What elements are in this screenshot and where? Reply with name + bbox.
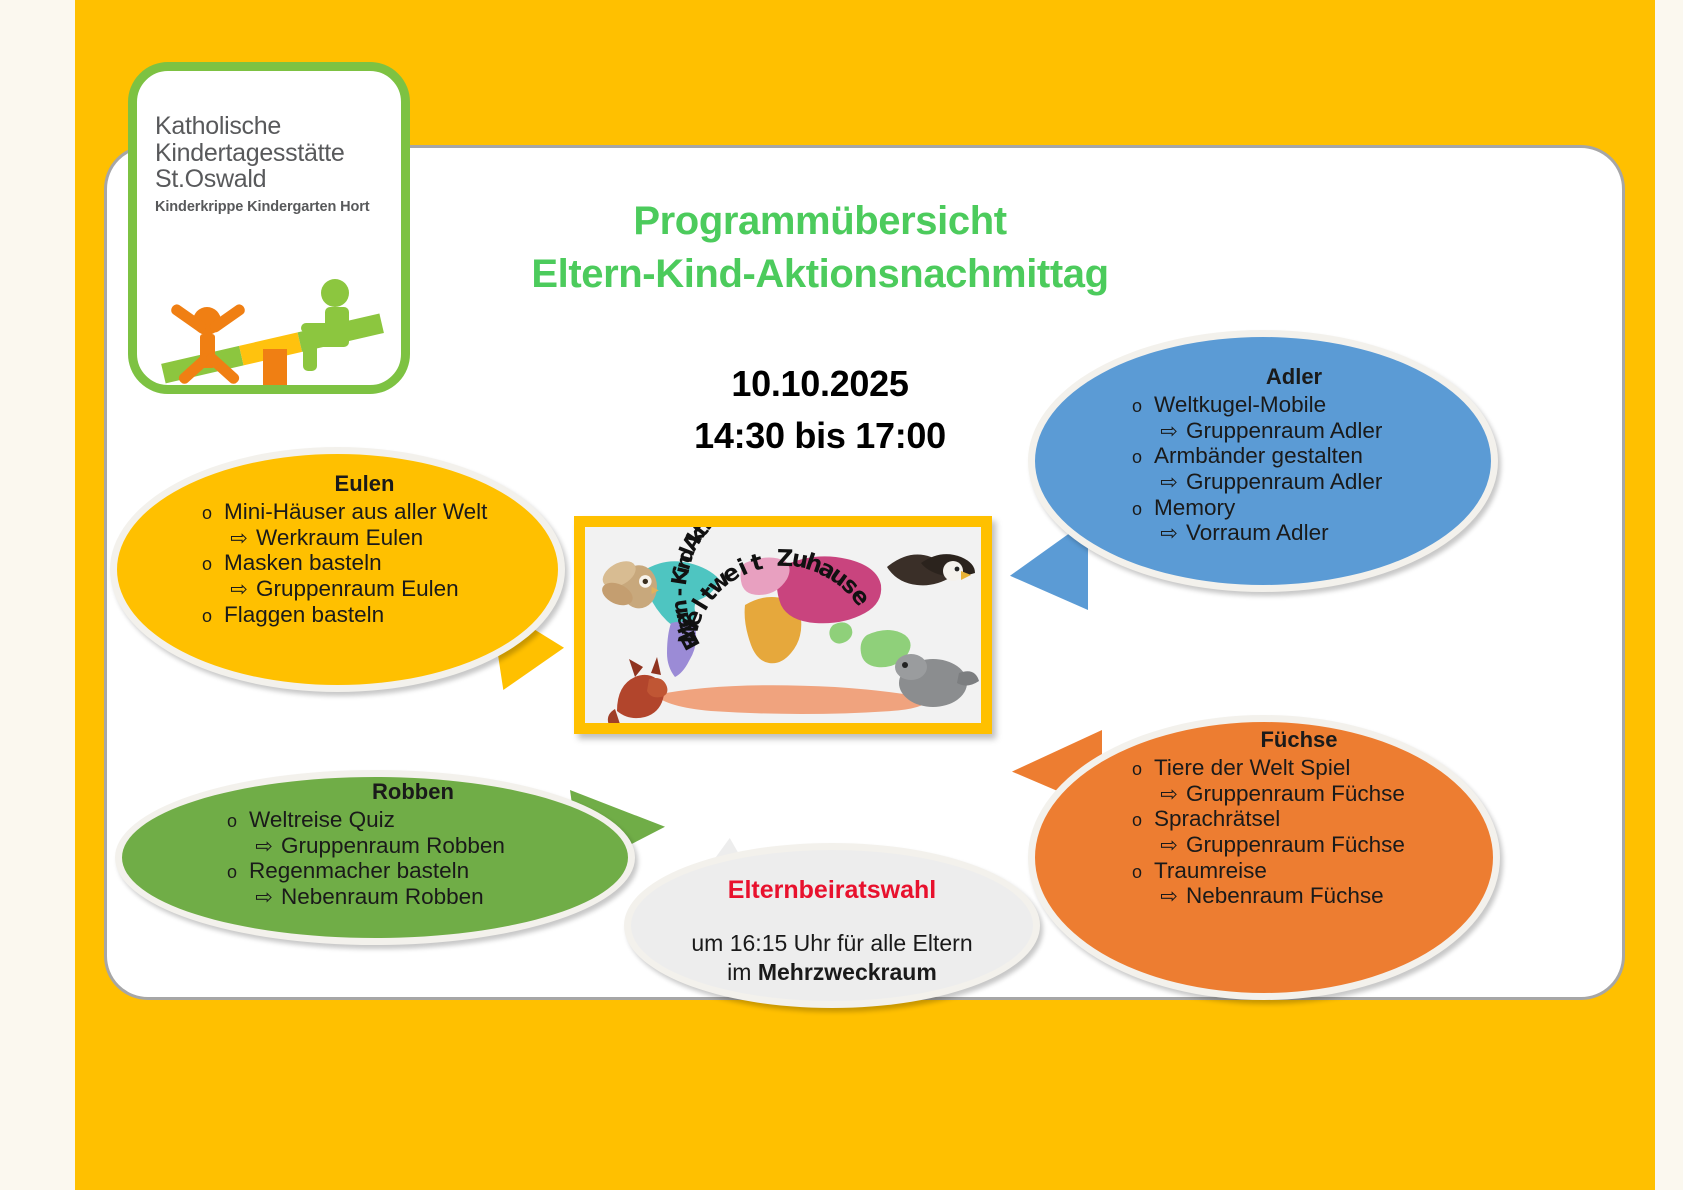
logo-line-4: Kinderkrippe Kindergarten Hort [155, 200, 395, 215]
list-item-label: Vorraum Adler [1186, 520, 1468, 546]
list-item: oRegenmacher basteln [215, 858, 611, 884]
elternbeirat-bubble-content: Elternbeiratswahl um 16:15 Uhr für alle … [624, 843, 1040, 1008]
logo-line-1: Katholische [155, 113, 395, 140]
fuechse-list: Füchse oTiere der Welt Spiel ⇨Gruppenrau… [1028, 728, 1500, 909]
list-item-label: Gruppenraum Füchse [1186, 832, 1478, 858]
bullet-icon: o [1120, 447, 1154, 467]
elternbeirat-room: Mehrzweckraum [758, 959, 937, 985]
elternbeirat-text: Elternbeiratswahl um 16:15 Uhr für alle … [624, 876, 1040, 986]
list-item-label: Nebenraum Robben [281, 884, 611, 910]
list-item: ⇨Werkraum Eulen [190, 525, 539, 551]
list-item-label: Gruppenraum Adler [1186, 418, 1468, 444]
robben-title: Robben [215, 780, 611, 805]
arc-text-bottom: Eltern - Kind Aktion [585, 527, 981, 723]
arrow-icon: ⇨ [247, 886, 281, 910]
arrow-icon: ⇨ [222, 527, 256, 551]
logo-line-2: Kindertagesstätte [155, 140, 395, 167]
list-item-label: Armbänder gestalten [1154, 443, 1468, 469]
list-item: ⇨Nebenraum Robben [215, 884, 611, 910]
arrow-icon: ⇨ [1152, 471, 1186, 495]
list-item-label: Gruppenraum Robben [281, 833, 611, 859]
fuechse-bubble-content: Füchse oTiere der Welt Spiel ⇨Gruppenrau… [1028, 715, 1500, 1000]
list-item: ⇨Gruppenraum Füchse [1120, 781, 1478, 807]
adler-list: Adler oWeltkugel-Mobile ⇨Gruppenraum Adl… [1028, 365, 1498, 546]
bullet-icon: o [1120, 759, 1154, 779]
list-item-label: Masken basteln [224, 550, 539, 576]
fuechse-title: Füchse [1120, 728, 1478, 753]
bullet-icon: o [215, 862, 249, 882]
list-item-label: Traumreise [1154, 858, 1478, 884]
list-item: ⇨Gruppenraum Füchse [1120, 832, 1478, 858]
list-item: ⇨Gruppenraum Adler [1120, 469, 1468, 495]
center-picture: Weltweit Zuhause Eltern - Kind Aktion [585, 527, 981, 723]
list-item: ⇨Gruppenraum Eulen [190, 576, 539, 602]
seesaw-logo-icon [145, 271, 410, 394]
list-item: ⇨Vorraum Adler [1120, 520, 1468, 546]
bubble-elternbeiratswahl[interactable]: Elternbeiratswahl um 16:15 Uhr für alle … [624, 843, 1040, 1008]
elternbeirat-line-2-prefix: im [727, 959, 758, 985]
bubble-eulen[interactable]: Eulen oMini-Häuser aus aller Welt ⇨Werkr… [110, 447, 565, 692]
robben-bubble-content: Robben oWeltreise Quiz ⇨Gruppenraum Robb… [115, 770, 635, 945]
page-title: Programmübersicht Eltern-Kind-Aktionsnac… [430, 195, 1210, 301]
bubble-fuechse[interactable]: Füchse oTiere der Welt Spiel ⇨Gruppenrau… [1028, 715, 1500, 1000]
bubble-adler[interactable]: Adler oWeltkugel-Mobile ⇨Gruppenraum Adl… [1028, 330, 1498, 592]
arrow-icon: ⇨ [1152, 522, 1186, 546]
robben-list: Robben oWeltreise Quiz ⇨Gruppenraum Robb… [115, 780, 635, 910]
bullet-icon: o [1120, 862, 1154, 882]
list-item-label: Weltkugel-Mobile [1154, 392, 1468, 418]
list-item: oArmbänder gestalten [1120, 443, 1468, 469]
elternbeirat-line-1: um 16:15 Uhr für alle Eltern [650, 930, 1014, 956]
list-item: oMasken basteln [190, 550, 539, 576]
center-picture-frame: Weltweit Zuhause Eltern - Kind Aktion [574, 516, 992, 734]
list-item: oTiere der Welt Spiel [1120, 755, 1478, 781]
list-item-label: Tiere der Welt Spiel [1154, 755, 1478, 781]
list-item: oTraumreise [1120, 858, 1478, 884]
list-item: oMini-Häuser aus aller Welt [190, 499, 539, 525]
list-item-label: Regenmacher basteln [249, 858, 611, 884]
logo-text: Katholische Kindertagesstätte St.Oswald … [155, 113, 395, 215]
bullet-icon: o [190, 503, 224, 523]
poster-root: Programmübersicht Eltern-Kind-Aktionsnac… [0, 0, 1683, 1190]
bullet-icon: o [215, 811, 249, 831]
arrow-icon: ⇨ [247, 835, 281, 859]
bullet-icon: o [1120, 810, 1154, 830]
list-item-label: Gruppenraum Füchse [1186, 781, 1478, 807]
eulen-list: Eulen oMini-Häuser aus aller Welt ⇨Werkr… [110, 472, 565, 627]
list-item-label: Gruppenraum Eulen [256, 576, 539, 602]
eulen-title: Eulen [190, 472, 539, 497]
arrow-icon: ⇨ [1152, 783, 1186, 807]
list-item: oWeltreise Quiz [215, 807, 611, 833]
list-item-label: Sprachrätsel [1154, 806, 1478, 832]
eulen-bubble-content: Eulen oMini-Häuser aus aller Welt ⇨Werkr… [110, 447, 565, 692]
list-item-label: Mini-Häuser aus aller Welt [224, 499, 539, 525]
list-item: ⇨Nebenraum Füchse [1120, 883, 1478, 909]
arrow-icon: ⇨ [1152, 420, 1186, 444]
elternbeirat-line-2: im Mehrzweckraum [650, 959, 1014, 985]
list-item: ⇨Gruppenraum Adler [1120, 418, 1468, 444]
bullet-icon: o [190, 554, 224, 574]
bullet-icon: o [1120, 499, 1154, 519]
arrow-icon: ⇨ [1152, 885, 1186, 909]
arrow-icon: ⇨ [222, 578, 256, 602]
list-item: oSprachrätsel [1120, 806, 1478, 832]
list-item-label: Memory [1154, 495, 1468, 521]
title-line-1: Programmübersicht [430, 195, 1210, 248]
logo-tile: Katholische Kindertagesstätte St.Oswald … [128, 62, 410, 394]
arrow-icon: ⇨ [1152, 834, 1186, 858]
bullet-icon: o [190, 606, 224, 626]
logo-line-3: St.Oswald [155, 166, 395, 193]
list-item: oFlaggen basteln [190, 602, 539, 628]
list-item-label: Gruppenraum Adler [1186, 469, 1468, 495]
list-item-label: Nebenraum Füchse [1186, 883, 1478, 909]
adler-title: Adler [1120, 365, 1468, 390]
list-item-label: Flaggen basteln [224, 602, 539, 628]
elternbeirat-title: Elternbeiratswahl [650, 876, 1014, 904]
list-item-label: Werkraum Eulen [256, 525, 539, 551]
list-item: oWeltkugel-Mobile [1120, 392, 1468, 418]
list-item: oMemory [1120, 495, 1468, 521]
list-item-label: Weltreise Quiz [249, 807, 611, 833]
title-line-2: Eltern-Kind-Aktionsnachmittag [430, 248, 1210, 301]
adler-bubble-content: Adler oWeltkugel-Mobile ⇨Gruppenraum Adl… [1028, 330, 1498, 592]
bullet-icon: o [1120, 396, 1154, 416]
list-item: ⇨Gruppenraum Robben [215, 833, 611, 859]
bubble-robben[interactable]: Robben oWeltreise Quiz ⇨Gruppenraum Robb… [115, 770, 635, 945]
